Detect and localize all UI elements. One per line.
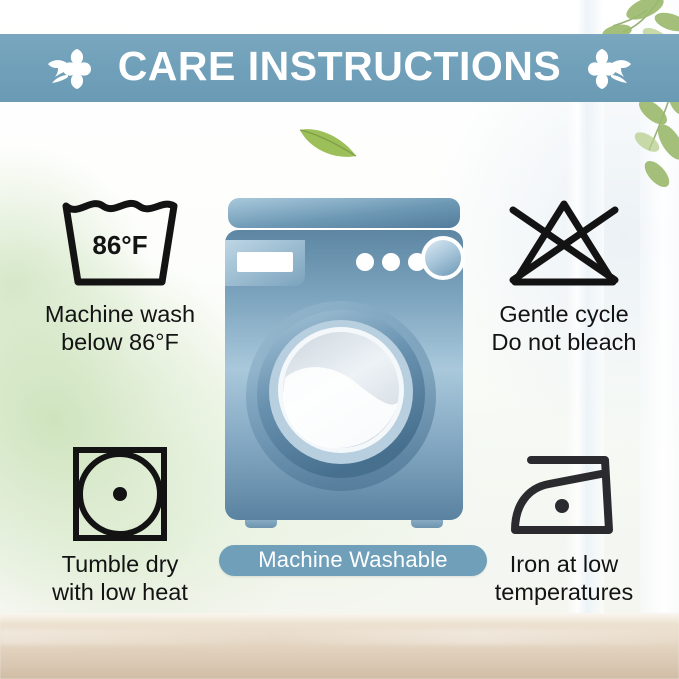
tumble-dry-icon-wrap (8, 442, 232, 546)
machine-display-screen (237, 252, 293, 272)
care-item-machine-wash: 86°F Machine wash below 86°F (8, 192, 232, 357)
iron-low-heat-icon (505, 448, 623, 540)
green-plant-leaves (553, 0, 679, 207)
wash-temperature-value: 86°F (92, 230, 147, 260)
machine-washable-badge-label: Machine Washable (258, 549, 447, 573)
do-not-bleach-triangle-icon (503, 196, 625, 292)
care-item-tumble-dry: Tumble dry with low heat (8, 442, 232, 607)
machine-indicator-light (382, 253, 400, 271)
care-item-iron: Iron at low temperatures (452, 442, 676, 607)
wash-tub-icon-wrap: 86°F (8, 192, 232, 296)
wooden-table-surface (0, 613, 679, 679)
care-label-tumble-dry: Tumble dry with low heat (8, 550, 232, 607)
care-item-gentle-cycle: Gentle cycle Do not bleach (452, 192, 676, 357)
machine-indicator-light (356, 253, 374, 271)
fleur-de-lis-icon-right (579, 45, 633, 91)
washing-machine-illustration (219, 196, 469, 544)
header-banner: CARE INSTRUCTIONS (0, 34, 679, 102)
care-label-machine-wash: Machine wash below 86°F (8, 300, 232, 357)
tumble-dry-low-icon (70, 444, 170, 544)
fleur-de-lis-icon-left (46, 45, 100, 91)
green-leaf-icon (296, 116, 362, 166)
page-title: CARE INSTRUCTIONS (118, 46, 562, 90)
do-not-bleach-icon-wrap (452, 192, 676, 296)
machine-washable-badge: Machine Washable (219, 545, 487, 576)
machine-dial (425, 240, 461, 276)
wash-tub-icon: 86°F (58, 196, 182, 292)
care-instructions-infographic: CARE INSTRUCTIONS 86°F Machine wash belo… (0, 0, 679, 679)
machine-top-lid (228, 198, 460, 228)
care-label-gentle-cycle: Gentle cycle Do not bleach (452, 300, 676, 357)
iron-icon-wrap (452, 442, 676, 546)
table-highlight (0, 629, 679, 645)
